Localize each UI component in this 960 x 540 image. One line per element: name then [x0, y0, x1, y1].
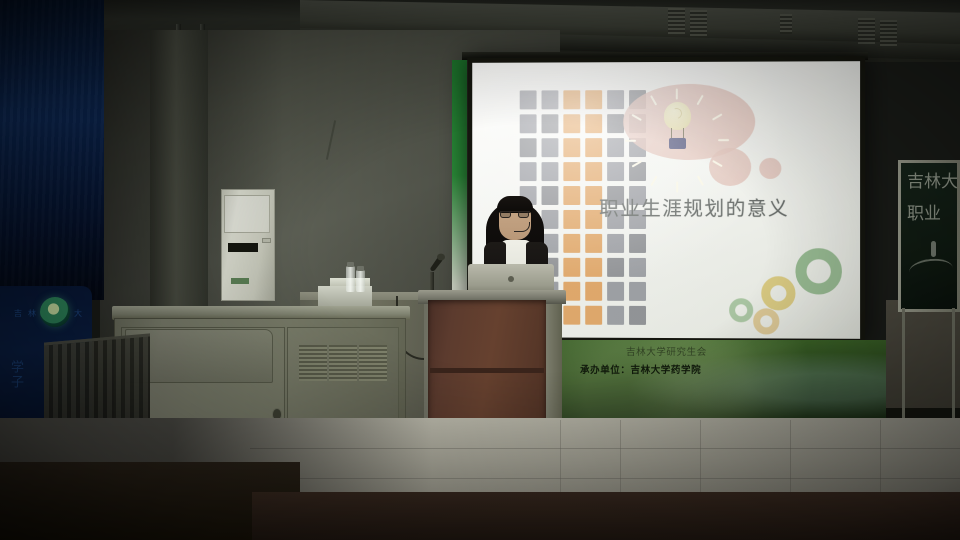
ceiling-grille — [858, 18, 875, 44]
ceiling-grille — [780, 14, 792, 34]
slide-grid-square — [585, 162, 602, 181]
slide-grid-square — [607, 90, 624, 109]
lightbulb-ray — [650, 175, 658, 186]
cabinet-vent — [359, 345, 387, 381]
bottle-cap — [357, 266, 364, 271]
slide-grid-square — [563, 90, 580, 109]
slide-grid-square — [585, 258, 602, 277]
slide-grid-square — [563, 258, 580, 277]
slide-grid-square — [607, 306, 624, 325]
slide-grid-square — [563, 306, 580, 325]
ring-yellow-small — [753, 308, 779, 334]
water-bottle[interactable] — [356, 270, 365, 292]
foreground-bench — [252, 492, 960, 540]
slide-grid-square — [629, 306, 646, 325]
water-bottle[interactable] — [346, 266, 355, 292]
ring-green-large — [795, 248, 841, 294]
lecture-hall-scene: 职业生涯规划的意义 吉林大学研究生会 承办单位：吉林大学药学院 — [0, 0, 960, 540]
laptop-logo — [508, 276, 514, 282]
slide-grid-square — [607, 114, 624, 133]
slide-grid-square — [563, 162, 580, 181]
backdrop-line-1: 吉林大学研究生会 — [626, 344, 707, 358]
slide-grid-square — [563, 210, 580, 229]
slide-grid-square — [542, 138, 559, 157]
presenter-glasses-lens — [500, 211, 511, 218]
slide-grid-square — [607, 234, 624, 253]
slide-grid-square — [563, 234, 580, 253]
ceiling-grille — [690, 10, 707, 36]
blackboard-surface: 吉林大 职业 — [901, 163, 957, 309]
slide-grid-square — [585, 90, 602, 109]
microphone-icon[interactable] — [426, 252, 448, 274]
slide-grid-square — [563, 186, 580, 205]
ceiling-grille — [880, 20, 897, 46]
slide-grid-square — [520, 90, 537, 109]
banner-vertical-text: 学子 — [6, 360, 25, 390]
slide-grid-square — [585, 138, 602, 157]
blackboard-stand-leg — [952, 308, 955, 426]
university-seal-logo — [40, 297, 70, 327]
slide-grid-square — [542, 90, 559, 109]
slide-grid-square — [607, 138, 624, 157]
pc-front-panel — [224, 195, 270, 233]
slide-grid-square — [607, 258, 624, 277]
chalk-scribble — [908, 257, 954, 283]
slide-grid-square — [585, 114, 602, 133]
lightbulb-ray — [676, 181, 678, 192]
podium-panel-seam — [430, 368, 544, 373]
blackboard-stand-leg — [902, 308, 905, 430]
ring-green-small — [729, 298, 753, 322]
slide-grid-square — [629, 234, 646, 253]
slide-grid-square — [563, 114, 580, 133]
slide-grid-square — [585, 282, 602, 301]
slide-grid-square — [542, 114, 559, 133]
lightbulb-ray — [625, 139, 636, 141]
slide-grid-square — [585, 306, 602, 325]
slide-grid-square — [629, 282, 646, 301]
slide-grid-square — [585, 234, 602, 253]
slide-grid-square — [607, 282, 624, 301]
lightbulb-ray — [696, 175, 704, 186]
cabinet-vent — [299, 345, 327, 381]
slide-grid-square — [520, 162, 537, 181]
ceiling-grille — [668, 8, 685, 34]
backdrop-line-2: 承办单位：吉林大学药学院 — [580, 362, 701, 376]
chalk-mark — [931, 241, 936, 257]
lightbulb-base-icon — [669, 138, 686, 149]
pc-sticker — [231, 278, 249, 284]
blackboard: 吉林大 职业 — [898, 160, 960, 312]
slide-grid-square — [542, 162, 559, 181]
blackboard-line-2: 职业 — [907, 199, 941, 224]
thought-bubble-medium — [709, 148, 751, 186]
presenter-glasses-lens — [518, 211, 529, 218]
blackboard-line-1: 吉林大 — [907, 167, 958, 192]
cabinet-vent — [329, 345, 357, 381]
pc-power-button[interactable] — [262, 238, 271, 243]
wall-column — [150, 30, 208, 330]
slide-grid-square — [629, 258, 646, 277]
slide-grid-square — [520, 138, 537, 157]
slide-grid-square — [563, 138, 580, 157]
slide-grid-square — [607, 162, 624, 181]
curtain-shading — [0, 0, 104, 300]
slide-title: 职业生涯规划的意义 — [599, 192, 789, 221]
bottle-cap — [347, 262, 354, 267]
slide-grid-square — [520, 114, 537, 133]
ring-yellow-medium — [761, 276, 795, 310]
pc-drive-slot — [228, 243, 258, 252]
thought-bubble-small — [759, 158, 781, 179]
